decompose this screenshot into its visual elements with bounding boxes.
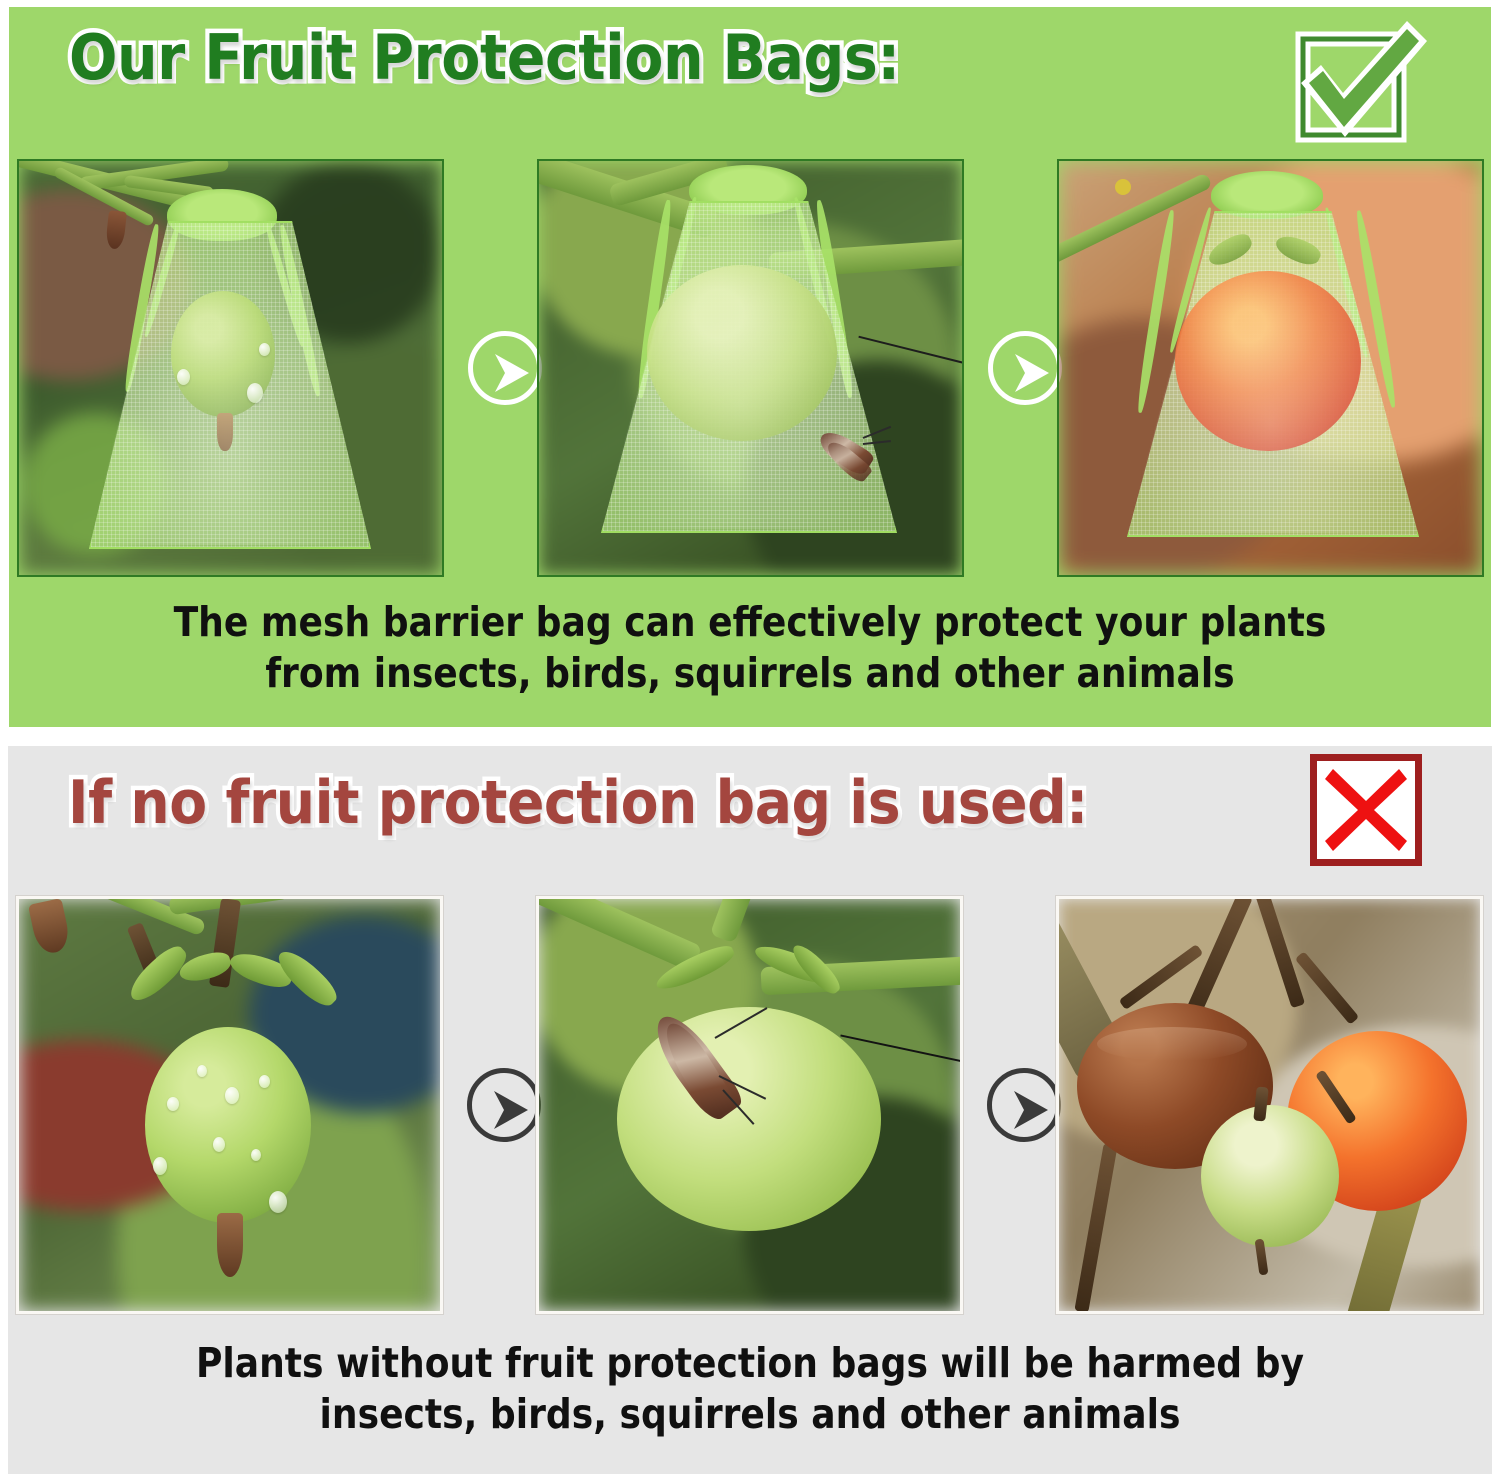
bad-photo-row xyxy=(8,896,1492,1314)
bad-section-caption: Plants without fruit protection bags wil… xyxy=(97,1338,1403,1441)
fruit-protection-bag-infographic: Our Fruit Protection Bags: xyxy=(0,0,1500,1480)
good-heading-row: Our Fruit Protection Bags: xyxy=(9,7,1491,157)
arrow-right-icon xyxy=(467,1068,541,1142)
bad-caption-line-2: insects, birds, squirrels and other anim… xyxy=(97,1389,1403,1440)
photo-bagged-ripe-tomato xyxy=(1057,159,1484,577)
bad-heading-row: If no fruit protection bag is used: xyxy=(8,746,1492,896)
photo-unprotected-green-tomato xyxy=(16,896,443,1314)
arrow-right-icon xyxy=(468,331,542,405)
bad-section-heading: If no fruit protection bag is used: xyxy=(68,768,1088,838)
photo-bagged-green-tomato xyxy=(17,159,444,577)
good-outcome-panel: Our Fruit Protection Bags: xyxy=(8,6,1492,728)
photo-moth-on-unprotected-tomato xyxy=(536,896,963,1314)
moth-icon xyxy=(815,433,881,491)
arrow-right-icon xyxy=(987,1068,1061,1142)
bad-caption-line-1: Plants without fruit protection bags wil… xyxy=(97,1338,1403,1389)
photo-damaged-rotten-tomatoes xyxy=(1056,896,1483,1314)
photo-bagged-tomato-with-moth-outside xyxy=(537,159,964,577)
good-section-heading: Our Fruit Protection Bags: xyxy=(69,21,900,94)
good-section-caption: The mesh barrier bag can effectively pro… xyxy=(98,597,1402,700)
cross-mark-icon xyxy=(1310,754,1422,866)
arrow-right-icon xyxy=(988,331,1062,405)
moth-icon xyxy=(631,1019,761,1159)
good-caption-line-1: The mesh barrier bag can effectively pro… xyxy=(98,597,1402,648)
check-mark-icon xyxy=(1287,15,1429,151)
good-caption-line-2: from insects, birds, squirrels and other… xyxy=(98,648,1402,699)
good-photo-row xyxy=(9,159,1491,577)
